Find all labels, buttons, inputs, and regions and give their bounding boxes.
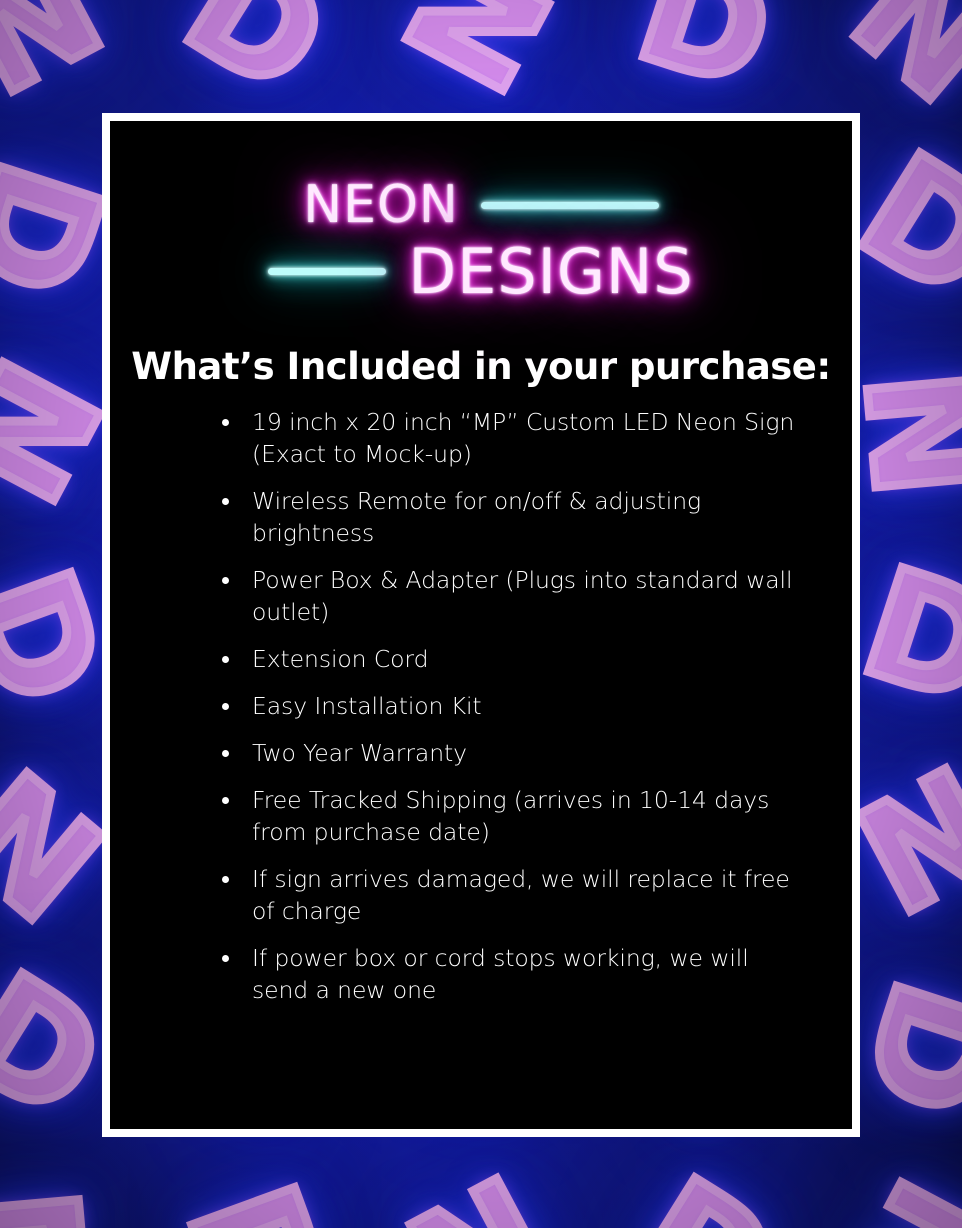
bullet-dot-icon [222, 419, 229, 426]
background-glyph-n: N [833, 0, 962, 120]
list-item: Extension Cord [222, 643, 812, 675]
background-glyph-d: D [164, 0, 349, 119]
included-items-list: 19 inch x 20 inch “MP” Custom LED Neon S… [110, 406, 852, 1006]
list-item-label: Wireless Remote for on/off & adjusting b… [252, 487, 701, 547]
neon-designs-logo: NEON DESIGNS [110, 153, 852, 333]
list-item-label: Easy Installation Kit [252, 692, 482, 720]
background-glyph-n: N [385, 0, 576, 113]
bullet-dot-icon [222, 703, 229, 710]
list-item: If power box or cord stops working, we w… [222, 942, 812, 1006]
background-glyph-d: D [847, 547, 962, 728]
background-glyph-n: N [850, 363, 962, 501]
list-item-label: Extension Cord [252, 645, 428, 673]
logo-word-designs: DESIGNS [408, 235, 693, 308]
list-item-label: Power Box & Adapter (Plugs into standard… [252, 566, 792, 626]
bullet-dot-icon [222, 797, 229, 804]
list-item: Power Box & Adapter (Plugs into standard… [222, 564, 812, 628]
poster-canvas: NDNDNDNDNDNDNDNDNDNDNDNDNDNDNDNDNDNDNDND… [0, 0, 962, 1228]
list-item-label: If sign arrives damaged, we will replace… [252, 865, 790, 925]
white-framed-panel: NEON DESIGNS What’s Included in your pur… [102, 113, 860, 1137]
logo-row-bottom: DESIGNS [110, 235, 852, 308]
list-item-label: Free Tracked Shipping (arrives in 10-14 … [252, 786, 769, 846]
background-glyph-n: N [0, 0, 123, 118]
list-item-label: Two Year Warranty [252, 739, 467, 767]
background-glyph-n: N [390, 1157, 571, 1228]
bullet-dot-icon [222, 656, 229, 663]
list-item: Free Tracked Shipping (arrives in 10-14 … [222, 784, 812, 848]
logo-word-neon: NEON [303, 175, 459, 235]
background-glyph-d: D [165, 1168, 349, 1228]
list-item: Easy Installation Kit [222, 690, 812, 722]
bullet-dot-icon [222, 498, 229, 505]
bullet-dot-icon [222, 750, 229, 757]
black-content-panel: NEON DESIGNS What’s Included in your pur… [110, 121, 852, 1129]
list-item: If sign arrives damaged, we will replace… [222, 863, 812, 927]
cyan-neon-bar-top [481, 202, 659, 209]
bullet-dot-icon [222, 955, 229, 962]
list-item-label: If power box or cord stops working, we w… [252, 944, 749, 1004]
list-item: Wireless Remote for on/off & adjusting b… [222, 485, 812, 549]
background-glyph-n: N [0, 1183, 112, 1228]
list-item-label: 19 inch x 20 inch “MP” Custom LED Neon S… [252, 408, 794, 468]
background-glyph-n: N [834, 1162, 962, 1228]
background-glyph-d: D [613, 1156, 798, 1228]
list-item: 19 inch x 20 inch “MP” Custom LED Neon S… [222, 406, 812, 470]
page-title: What’s Included in your purchase: [110, 347, 852, 388]
cyan-neon-bar-bottom [268, 268, 386, 275]
logo-row-top: NEON [110, 175, 852, 235]
list-item: Two Year Warranty [222, 737, 812, 769]
bullet-dot-icon [222, 577, 229, 584]
background-glyph-d: D [623, 0, 788, 113]
bullet-dot-icon [222, 876, 229, 883]
